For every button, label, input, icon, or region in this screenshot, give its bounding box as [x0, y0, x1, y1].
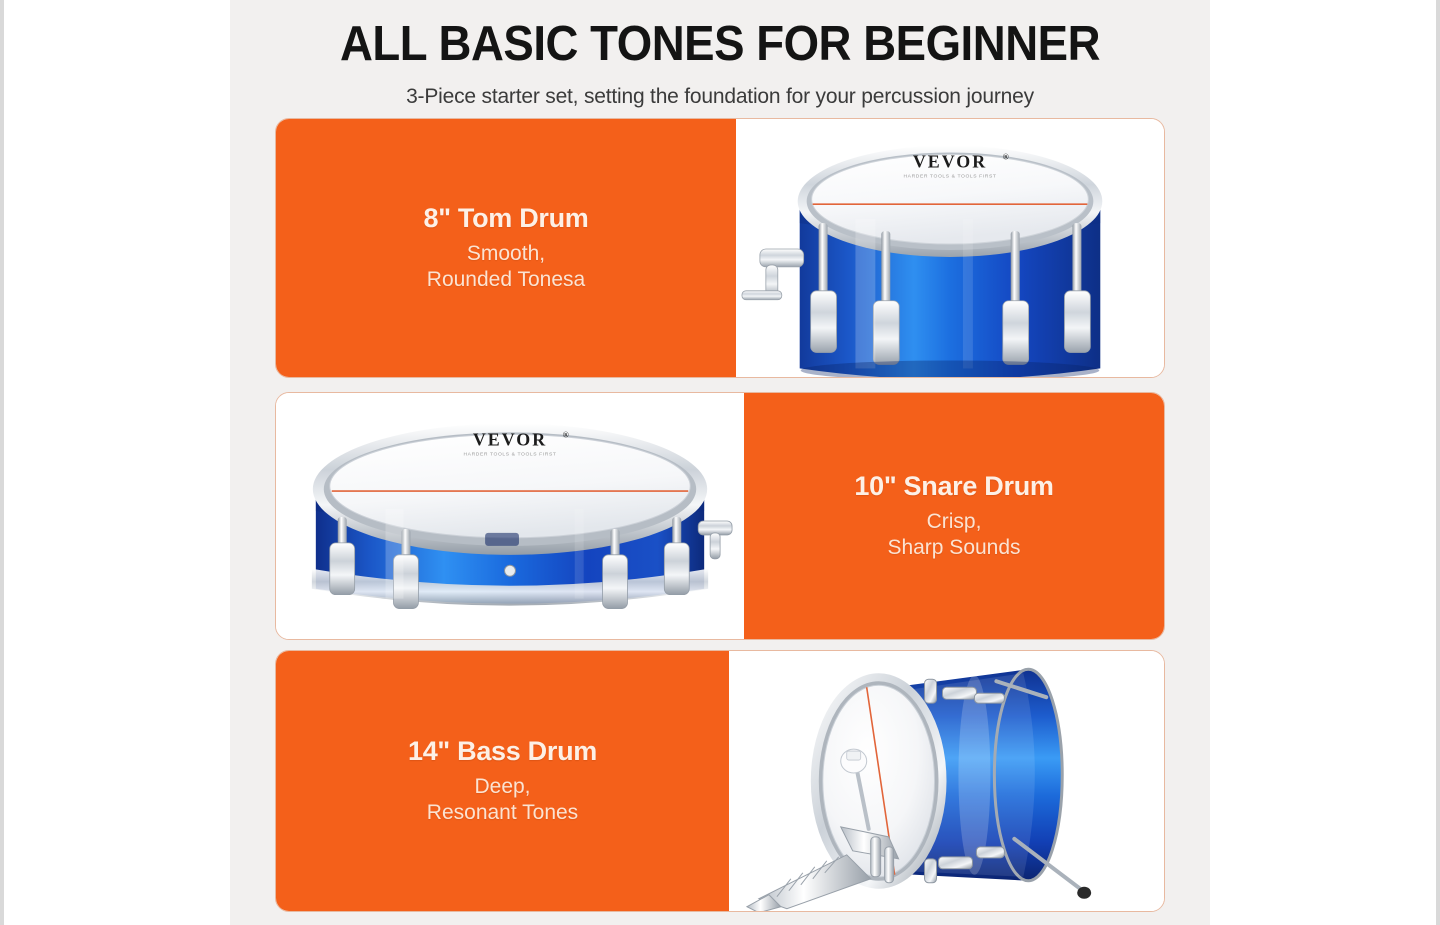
bass-drum-illustration	[729, 651, 1164, 911]
vevor-tagline-tom: HARDER TOOLS & TOOLS FIRST	[903, 173, 996, 179]
bass-desc-line-2: Resonant Tones	[427, 801, 578, 824]
vevor-tagline-snare: HARDER TOOLS & TOOLS FIRST	[463, 451, 556, 457]
tom-text-panel: 8" Tom Drum Smooth, Rounded Tonesa	[276, 119, 736, 377]
vevor-wordmark-snare: VEVOR	[473, 429, 547, 449]
vevor-wordmark-tom: VEVOR	[913, 151, 987, 171]
snare-name: 10" Snare Drum	[854, 471, 1053, 502]
snare-image-panel: VEVOR ® HARDER TOOLS & TOOLS FIRST	[276, 393, 744, 639]
snare-drum-illustration: VEVOR ® HARDER TOOLS & TOOLS FIRST	[276, 393, 744, 639]
page-left-rail	[0, 0, 4, 925]
vevor-registered-tom: ®	[1003, 152, 1011, 161]
snare-description: Crisp, Sharp Sounds	[887, 502, 1020, 560]
snare-text-panel: 10" Snare Drum Crisp, Sharp Sounds	[744, 393, 1164, 639]
tom-image-panel: VEVOR ® HARDER TOOLS & TOOLS FIRST	[736, 119, 1164, 377]
feature-card-snare: 10" Snare Drum Crisp, Sharp Sounds	[275, 392, 1165, 640]
tom-description: Smooth, Rounded Tonesa	[427, 234, 585, 292]
tom-desc-line-1: Smooth,	[467, 242, 545, 265]
bass-footboard	[759, 855, 871, 909]
bass-text-panel: 14" Bass Drum Deep, Resonant Tones	[276, 651, 729, 911]
tom-mount-bracket	[742, 249, 804, 300]
infographic-canvas: ALL BASIC TONES FOR BEGINNER 3-Piece sta…	[230, 0, 1210, 925]
page-title: ALL BASIC TONES FOR BEGINNER	[264, 0, 1175, 69]
page-right-rail	[1436, 0, 1440, 925]
bass-name: 14" Bass Drum	[408, 736, 597, 767]
snare-desc-line-1: Crisp,	[927, 510, 982, 533]
feature-card-bass: 14" Bass Drum Deep, Resonant Tones	[275, 650, 1165, 912]
snare-desc-line-2: Sharp Sounds	[887, 536, 1020, 559]
header: ALL BASIC TONES FOR BEGINNER 3-Piece sta…	[230, 0, 1210, 109]
snare-air-vent	[505, 565, 516, 576]
feature-card-tom: 8" Tom Drum Smooth, Rounded Tonesa	[275, 118, 1165, 378]
tom-name: 8" Tom Drum	[423, 203, 588, 234]
tom-desc-line-2: Rounded Tonesa	[427, 268, 585, 291]
page-subtitle: 3-Piece starter set, setting the foundat…	[230, 69, 1210, 109]
bass-description: Deep, Resonant Tones	[427, 767, 578, 825]
vevor-registered-snare: ®	[563, 430, 571, 439]
bass-image-panel	[729, 651, 1164, 911]
infographic-page: ALL BASIC TONES FOR BEGINNER 3-Piece sta…	[0, 0, 1440, 925]
bass-desc-line-1: Deep,	[474, 775, 530, 798]
tom-drum-illustration: VEVOR ® HARDER TOOLS & TOOLS FIRST	[736, 119, 1164, 377]
